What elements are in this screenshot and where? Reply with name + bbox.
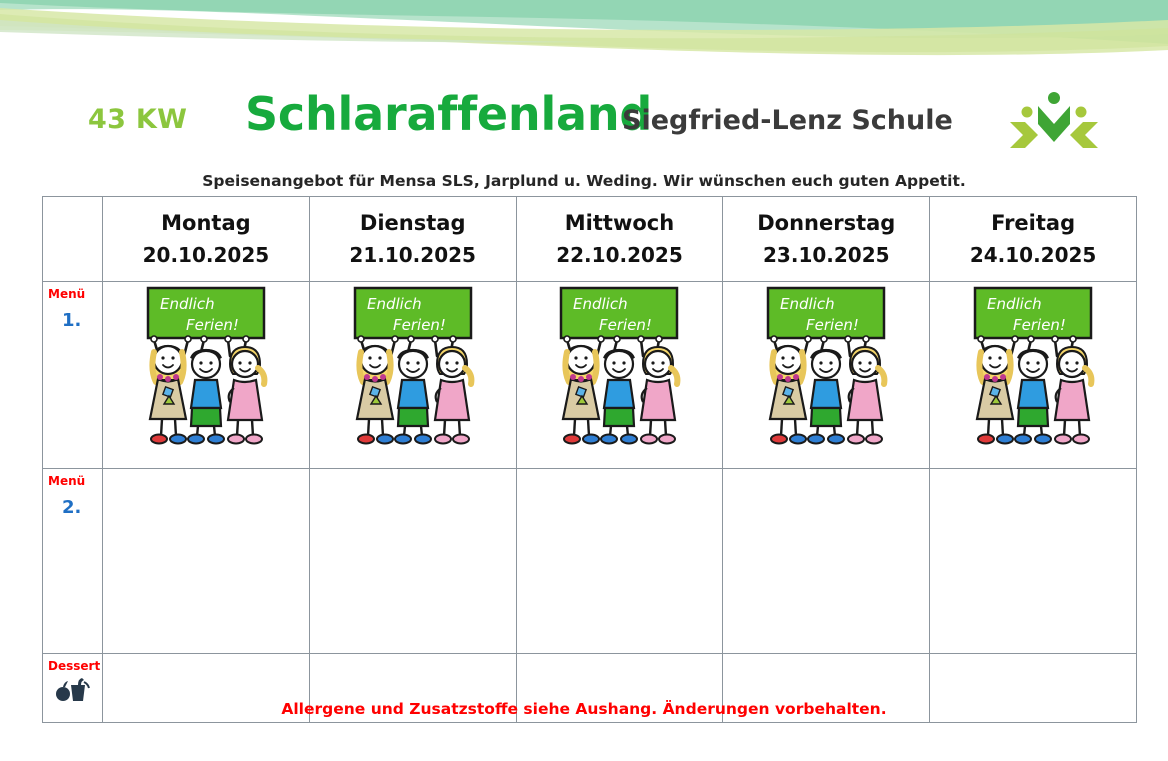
table-header-row: Montag 20.10.2025 Dienstag 21.10.2025 Mi…	[43, 197, 1137, 282]
day-header-dienstag: Dienstag 21.10.2025	[309, 197, 516, 282]
table-row-menu-2: Menü 2.	[43, 469, 1137, 654]
row-label-menu-1: Menü 1.	[43, 282, 103, 469]
school-name: Siegfried-Lenz Schule	[622, 105, 953, 136]
day-date: 20.10.2025	[103, 244, 309, 267]
sign-line-1: Endlich	[780, 295, 835, 313]
day-name: Donnerstag	[723, 211, 929, 235]
day-date: 24.10.2025	[930, 244, 1136, 267]
day-header-mittwoch: Mittwoch 22.10.2025	[516, 197, 723, 282]
row-label-word: Dessert	[48, 660, 102, 673]
menu-cell-freitag-1[interactable]: Endlich Ferien!	[930, 282, 1137, 469]
menu-cell-donnerstag-1[interactable]: Endlich Ferien!	[723, 282, 930, 469]
day-header-freitag: Freitag 24.10.2025	[930, 197, 1137, 282]
endlich-ferien-illustration: Endlich Ferien!	[130, 284, 282, 450]
day-name: Freitag	[930, 211, 1136, 235]
weekly-menu-table: Montag 20.10.2025 Dienstag 21.10.2025 Mi…	[42, 196, 1137, 723]
sign-line-1: Endlich	[573, 295, 628, 313]
row-label-menu-2: Menü 2.	[43, 469, 103, 654]
sign-line-2: Ferien!	[393, 316, 446, 334]
menu-cell-mittwoch-2[interactable]	[516, 469, 723, 654]
day-header-donnerstag: Donnerstag 23.10.2025	[723, 197, 930, 282]
menu-cell-montag-1[interactable]: Endlich Ferien!	[103, 282, 310, 469]
page-header: 43 KW Schlaraffenland Siegfried-Lenz Sch…	[0, 92, 1168, 152]
day-date: 22.10.2025	[517, 244, 723, 267]
row-label-number: 1.	[62, 310, 102, 331]
endlich-ferien-illustration: Endlich Ferien!	[750, 284, 902, 450]
endlich-ferien-illustration: Endlich Ferien!	[957, 284, 1109, 450]
week-number-label: 43 KW	[88, 104, 187, 135]
menu-cell-freitag-2[interactable]	[930, 469, 1137, 654]
row-label-word: Menü	[48, 475, 102, 488]
sign-line-1: Endlich	[987, 295, 1042, 313]
three-figures-logo	[1008, 90, 1100, 152]
sign-line-1: Endlich	[160, 295, 215, 313]
sign-line-1: Endlich	[367, 295, 422, 313]
sign-line-2: Ferien!	[599, 316, 652, 334]
allergen-footer-note: Allergene und Zusatzstoffe siehe Aushang…	[0, 700, 1168, 718]
day-date: 23.10.2025	[723, 244, 929, 267]
row-label-word: Menü	[48, 288, 102, 301]
menu-cell-dienstag-1[interactable]: Endlich Ferien!	[309, 282, 516, 469]
day-name: Montag	[103, 211, 309, 235]
day-date: 21.10.2025	[310, 244, 516, 267]
day-name: Dienstag	[310, 211, 516, 235]
row-label-number: 2.	[62, 497, 102, 518]
table-row-menu-1: Menü 1. Endlich Ferien!	[43, 282, 1137, 469]
day-header-montag: Montag 20.10.2025	[103, 197, 310, 282]
sign-line-2: Ferien!	[186, 316, 239, 334]
sign-line-2: Ferien!	[806, 316, 859, 334]
page-title: Schlaraffenland	[245, 87, 652, 141]
endlich-ferien-illustration: Endlich Ferien!	[337, 284, 489, 450]
sign-line-2: Ferien!	[1013, 316, 1066, 334]
menu-cell-dienstag-2[interactable]	[309, 469, 516, 654]
menu-cell-donnerstag-2[interactable]	[723, 469, 930, 654]
page-subtitle: Speisenangebot für Mensa SLS, Jarplund u…	[0, 172, 1168, 190]
endlich-ferien-illustration: Endlich Ferien!	[543, 284, 695, 450]
table-corner-cell	[43, 197, 103, 282]
header-wave-decoration	[0, 0, 1168, 62]
menu-cell-mittwoch-1[interactable]: Endlich Ferien!	[516, 282, 723, 469]
day-name: Mittwoch	[517, 211, 723, 235]
menu-cell-montag-2[interactable]	[103, 469, 310, 654]
